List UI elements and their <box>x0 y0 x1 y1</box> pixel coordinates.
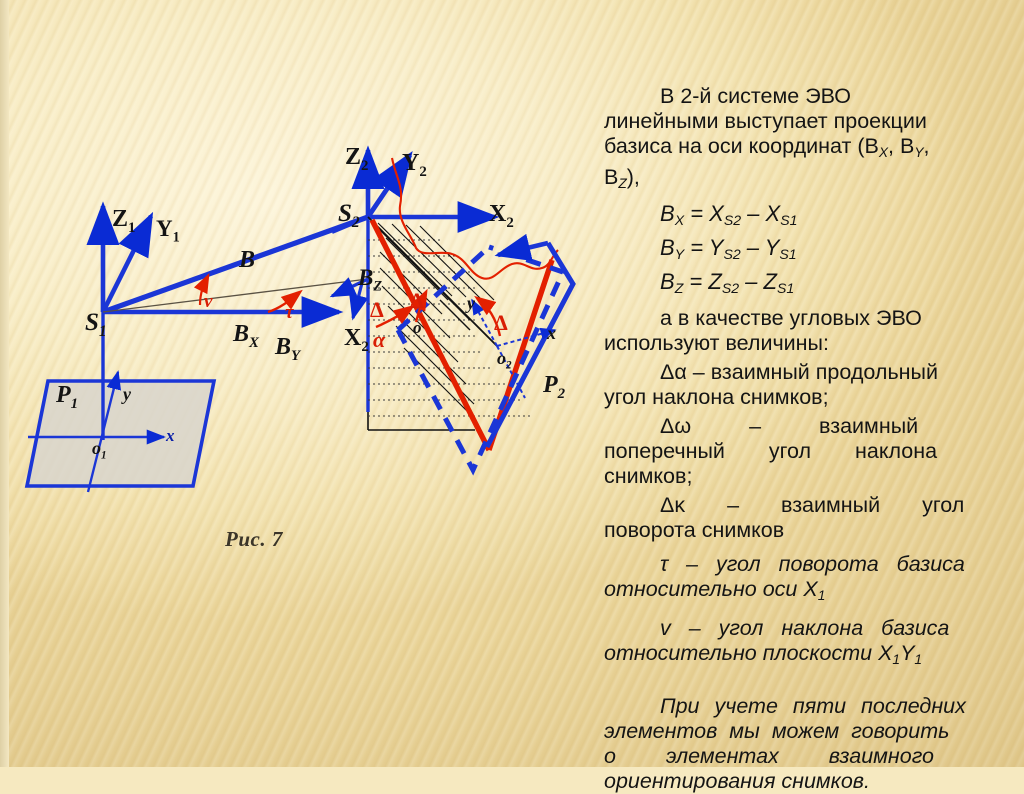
angle-label-tau: τ <box>285 302 293 324</box>
axis-label-small-x2: x <box>547 323 556 344</box>
delta-omega-line-2: поперечный угол наклона <box>604 439 937 463</box>
intro-line-4: BZ), <box>604 165 640 189</box>
paragraph-conclusion: При учете пяти последних элементов мы мо… <box>604 694 1016 794</box>
axis-label-z2: Z2 <box>345 144 368 175</box>
figure-diagram: Z1 Y1 S1 S2 B BX BY BZ v τ Z2 <box>0 0 620 767</box>
origin-label-o2: o2 <box>497 348 512 372</box>
axis-label-small-y1: y <box>123 384 131 405</box>
plane-label-p1: P1 <box>56 382 78 413</box>
angle-label-delta-alpha: Δ <box>370 297 384 323</box>
paragraph-delta-alpha: Δα – взаимный продольный угол наклона сн… <box>604 360 1016 410</box>
paragraph-delta-kappa: Δκ – взаимный угол поворота снимков <box>604 493 1016 543</box>
angle-label-delta-kappa: Δ <box>494 310 508 336</box>
axis-label-x2-lower: X2 <box>344 325 369 356</box>
paragraph-tau: τ – угол поворота базиса относительно ос… <box>604 552 1016 608</box>
equation-bz: BZ = ZS2 – ZS1 <box>604 268 1016 302</box>
delta-omega-line-3: снимков; <box>604 464 692 488</box>
conclusion-line-2: элементов мы можем говорить <box>604 719 949 743</box>
paragraph-delta-omega: Δω – взаимный поперечный угол наклона сн… <box>604 414 1016 489</box>
paragraph-angular-intro: а в качестве угловых ЭВО используют вели… <box>604 306 1016 356</box>
delta-alpha-line-1: Δα – взаимный продольный <box>660 360 938 384</box>
tau-line-1: τ – угол поворота базиса <box>660 552 965 576</box>
conclusion-line-4: ориентирования снимков. <box>604 769 870 793</box>
body-text-column: В 2-й системе ЭВО линейными выступает пр… <box>604 84 1016 794</box>
axis-label-small-x1: x <box>166 426 175 446</box>
conclusion-line-1: При учете пяти последних <box>660 694 966 718</box>
vector-label-bz: BZ <box>358 265 382 296</box>
delta-kappa-line-1: Δκ – взаимный угол <box>660 493 964 517</box>
axis-label-small-y2: y <box>467 293 475 314</box>
angle-label-delta-omega: Δ <box>410 288 424 314</box>
intro-line-3: базиса на оси координат (BX, BY, <box>604 134 929 158</box>
angle-label-nu: v <box>204 291 212 313</box>
intro-line-1: В 2-й системе ЭВО <box>660 84 851 108</box>
axis-label-y2: Y2 <box>402 150 427 181</box>
angular-intro-line-2: используют величины: <box>604 331 829 355</box>
delta-alpha-line-2: угол наклона снимков; <box>604 385 829 409</box>
figure-caption: Рис. 7 <box>225 527 283 552</box>
conclusion-line-3: о элементах взаимного <box>604 744 934 768</box>
delta-kappa-line-2: поворота снимков <box>604 518 784 542</box>
intro-line-2: линейными выступает проекции <box>604 109 927 133</box>
vector-label-bx: BX <box>233 321 259 352</box>
slide-canvas: Z1 Y1 S1 S2 B BX BY BZ v τ Z2 <box>0 0 1024 767</box>
delta-omega-line-1: Δω – взаимный <box>660 414 918 438</box>
paragraph-intro: В 2-й системе ЭВО линейными выступает пр… <box>604 84 1016 196</box>
vector-label-by: BY <box>275 334 300 365</box>
axis-label-y1: Y1 <box>156 216 180 247</box>
point-label-s2: S2 <box>338 200 360 232</box>
paragraph-nu: v – угол наклона базиса относительно пло… <box>604 616 1016 672</box>
equation-bx: BX = XS2 – XS1 <box>604 200 1016 234</box>
equation-by: BY = YS2 – YS1 <box>604 234 1016 268</box>
nu-line-2: относительно плоскости X1Y1 <box>604 641 922 665</box>
origin-label-o1-prime: o <box>413 318 422 338</box>
axis-label-z1: Z1 <box>112 206 135 237</box>
origin-label-o1: o1 <box>92 438 107 462</box>
point-label-s1: S1 <box>85 309 107 341</box>
tau-line-2: относительно оси X1 <box>604 577 825 601</box>
p2-edge-top <box>498 243 548 255</box>
plane-label-p2: P2 <box>543 372 565 403</box>
axis-label-x2: X2 <box>489 201 514 232</box>
nu-line-1: v – угол наклона базиса <box>660 616 949 640</box>
vector-label-b: B <box>239 247 255 274</box>
angular-intro-line-1: а в качестве угловых ЭВО <box>660 306 922 330</box>
angle-label-alpha: α <box>373 327 385 353</box>
